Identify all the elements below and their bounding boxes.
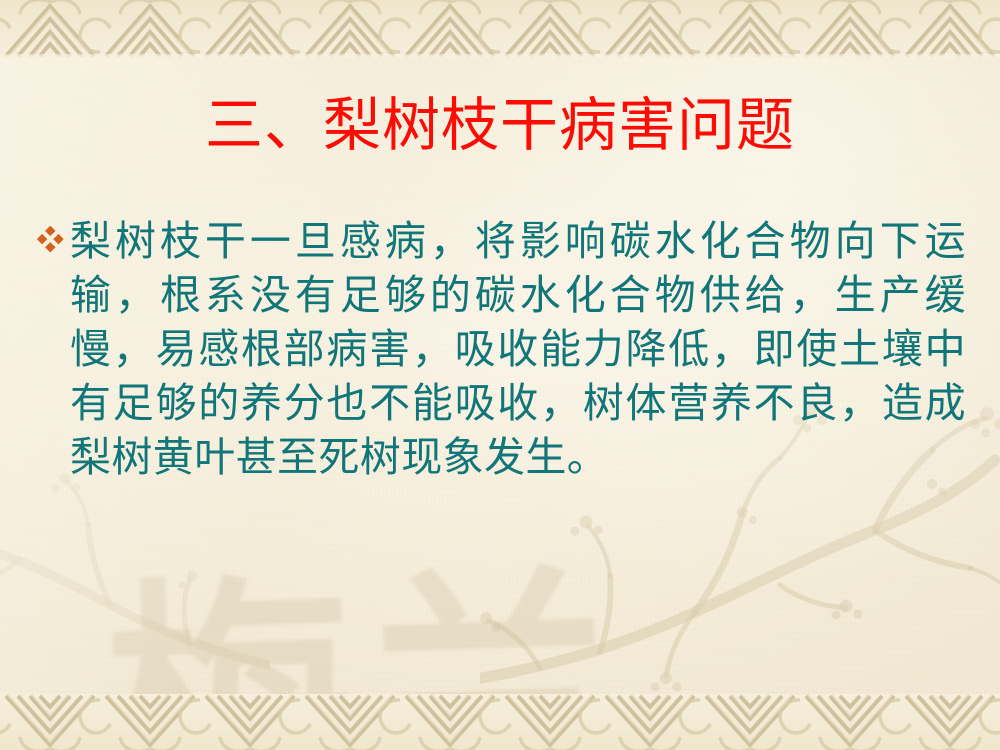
slide-title: 三、梨树枝干病害问题 bbox=[0, 95, 1000, 158]
slide-canvas: 梅兰 bbox=[0, 0, 1000, 750]
diamond-cluster-bullet-icon bbox=[36, 226, 70, 254]
body-paragraph-text: 梨树枝干一旦感病，将影响碳水化合物向下运输，根系没有足够的碳水化合物供给，生产缓… bbox=[70, 214, 966, 484]
bullet-paragraph-block: 梨树枝干一旦感病，将影响碳水化合物向下运输，根系没有足够的碳水化合物供给，生产缓… bbox=[36, 214, 966, 484]
decorative-border-bottom bbox=[0, 694, 1000, 750]
decorative-border-top bbox=[0, 0, 1000, 58]
